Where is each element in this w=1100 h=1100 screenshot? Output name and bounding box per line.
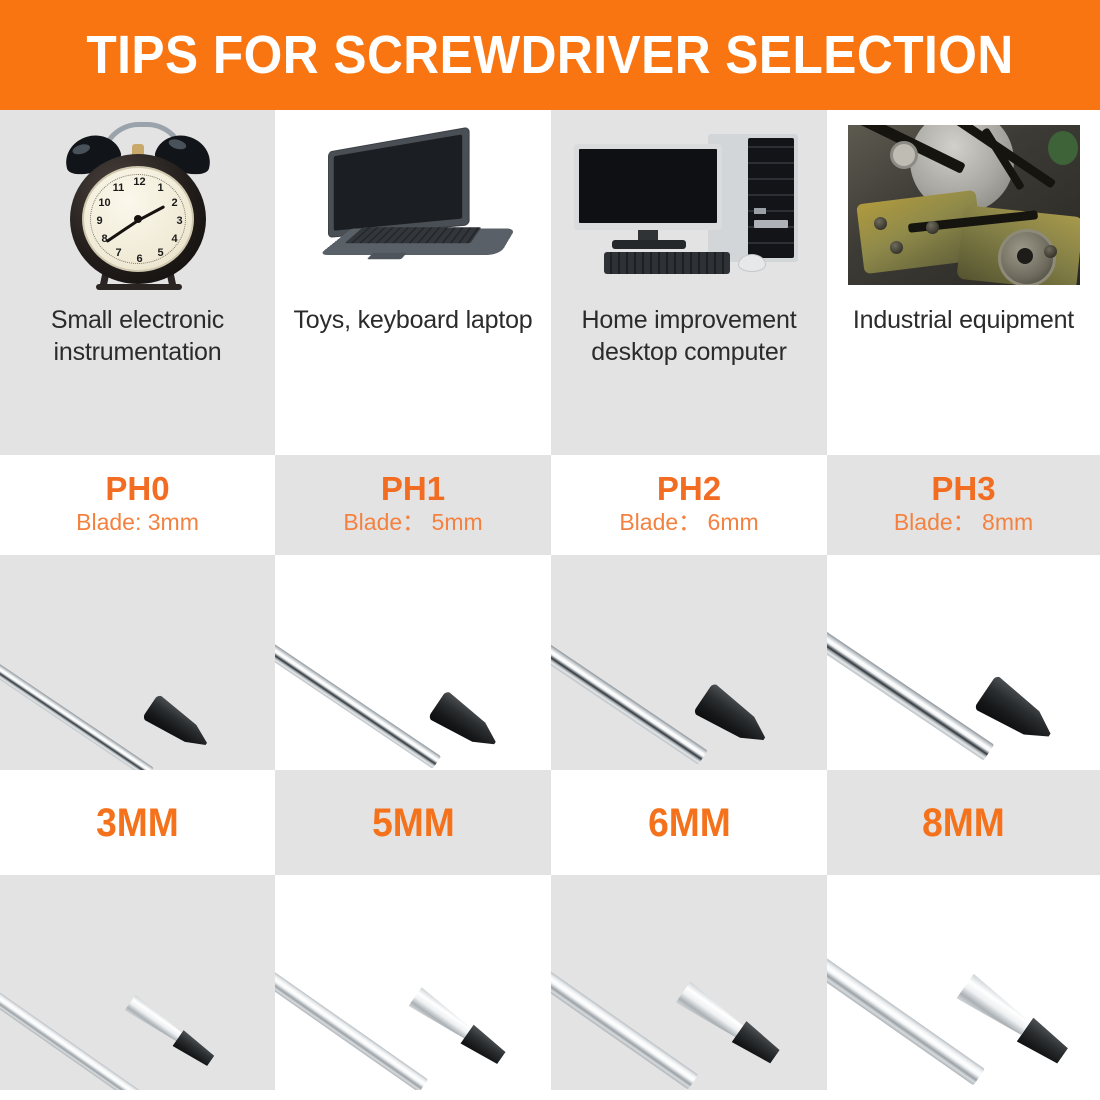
- use-case-caption: Toys, keyboard laptop: [287, 304, 538, 336]
- machine-bolt: [1044, 245, 1057, 258]
- monitor-base: [612, 240, 686, 249]
- ph-label-row: PH0 Blade: 3mm PH1 Blade： 5mm PH2 Blade：…: [0, 455, 1100, 555]
- mm-label: 6MM: [648, 803, 731, 843]
- phillips-screwdriver-2: [275, 555, 551, 770]
- flathead-blade-taper: [408, 987, 475, 1044]
- alarm-clock-icon: 12 1 2 3 4 5 6 7 8 9 10 11: [58, 120, 218, 290]
- screwdriver-shaft: [551, 560, 708, 764]
- clock-number: 11: [112, 183, 126, 194]
- clock-number: 12: [133, 177, 147, 188]
- laptop-trackpad: [367, 252, 407, 258]
- screwdriver-shaft: [0, 572, 154, 770]
- machine-bolt: [926, 221, 939, 234]
- industrial-machinery-photo: [848, 125, 1080, 285]
- mm-cell-1: 3MM: [0, 770, 275, 875]
- laptop-lid: [328, 126, 470, 237]
- pc-tower-power-button: [754, 220, 788, 228]
- flathead-screwdriver-1: [0, 875, 275, 1090]
- flathead-screwdriver-2: [275, 875, 551, 1090]
- blade-label: Blade： 6mm: [619, 507, 758, 538]
- monitor-screen: [579, 149, 717, 223]
- screwdriver-selection-infographic: TIPS FOR SCREWDRIVER SELECTION 12 1: [0, 0, 1100, 1100]
- industrial-equipment-image: [827, 110, 1100, 300]
- ph-cell-2: PH1 Blade： 5mm: [275, 455, 551, 555]
- clock-number: 2: [168, 198, 182, 209]
- screwdriver-shaft: [0, 890, 141, 1090]
- clock-face: 12 1 2 3 4 5 6 7 8 9 10 11: [82, 166, 194, 272]
- mouse: [738, 254, 766, 272]
- phillips-screwdriver-art: [551, 555, 827, 770]
- flathead-screwdriver-art: [0, 875, 275, 1090]
- pc-tower-front-panel: [748, 138, 794, 258]
- clock-number: 6: [133, 254, 147, 265]
- alarm-clock-image: 12 1 2 3 4 5 6 7 8 9 10 11: [0, 110, 275, 300]
- screwdriver-shaft: [275, 566, 441, 769]
- flathead-screwdriver-row: [0, 875, 1100, 1090]
- machine-hub: [890, 141, 918, 169]
- ph-label: PH0: [105, 472, 169, 507]
- desktop-computer-icon: [572, 130, 807, 280]
- ph-label: PH3: [931, 472, 995, 507]
- use-case-cell-3: Home improvement desktop computer: [551, 110, 827, 455]
- clock-number: 3: [173, 216, 187, 227]
- phillips-screwdriver-1: [0, 555, 275, 770]
- mm-cell-3: 6MM: [551, 770, 827, 875]
- ph-cell-1: PH0 Blade: 3mm: [0, 455, 275, 555]
- use-case-row: 12 1 2 3 4 5 6 7 8 9 10 11: [0, 110, 1100, 455]
- desktop-computer-image: [551, 110, 827, 300]
- screwdriver-shaft: [551, 879, 698, 1090]
- phillips-tip: [427, 690, 504, 757]
- clock-number: 9: [93, 216, 107, 227]
- laptop-image: [275, 110, 551, 300]
- page-title: TIPS FOR SCREWDRIVER SELECTION: [86, 28, 1013, 82]
- ph-label: PH2: [657, 472, 721, 507]
- laptop-screen: [334, 134, 462, 230]
- phillips-screwdriver-4: [827, 555, 1100, 770]
- flathead-screwdriver-art: [551, 875, 827, 1090]
- use-case-caption: Small electronic instrumentation: [0, 304, 275, 368]
- clock-number: 10: [98, 198, 112, 209]
- clock-number: 1: [154, 183, 168, 194]
- laptop-keyboard: [345, 227, 482, 243]
- screwdriver-shaft: [275, 884, 428, 1090]
- machine-bolt: [890, 241, 903, 254]
- clock-center-pin: [134, 215, 142, 223]
- phillips-screwdriver-art: [827, 555, 1100, 770]
- ph-cell-3: PH2 Blade： 6mm: [551, 455, 827, 555]
- screwdriver-shaft: [827, 875, 985, 1085]
- flathead-blade-taper: [676, 981, 748, 1042]
- clock-foot: [96, 284, 182, 290]
- monitor: [574, 144, 722, 230]
- use-case-caption: Home improvement desktop computer: [551, 304, 827, 368]
- use-case-caption: Industrial equipment: [847, 304, 1080, 336]
- phillips-screwdriver-art: [0, 555, 275, 770]
- use-case-cell-1: 12 1 2 3 4 5 6 7 8 9 10 11: [0, 110, 275, 455]
- flathead-screwdriver-art: [275, 875, 551, 1090]
- phillips-screwdriver-3: [551, 555, 827, 770]
- use-case-cell-2: Toys, keyboard laptop: [275, 110, 551, 455]
- mm-label: 3MM: [96, 803, 179, 843]
- blade-label: Blade： 5mm: [343, 507, 482, 538]
- ph-cell-4: PH3 Blade： 8mm: [827, 455, 1100, 555]
- flathead-screwdriver-4: [827, 875, 1100, 1090]
- clock-number: 7: [112, 248, 126, 259]
- blade-label: Blade: 3mm: [76, 507, 199, 538]
- clock-number: 4: [168, 234, 182, 245]
- use-case-cell-4: Industrial equipment: [827, 110, 1100, 455]
- phillips-tip: [142, 694, 215, 757]
- mm-label: 5MM: [372, 803, 455, 843]
- pc-tower-drive-slot: [754, 208, 766, 214]
- keyboard: [604, 252, 730, 274]
- clock-case: 12 1 2 3 4 5 6 7 8 9 10 11: [70, 154, 206, 284]
- machine-bolt: [874, 217, 887, 230]
- mm-cell-4: 8MM: [827, 770, 1100, 875]
- laptop-icon: [308, 138, 518, 273]
- mm-label: 8MM: [922, 803, 1005, 843]
- machine-green-part: [1048, 131, 1078, 165]
- mm-cell-2: 5MM: [275, 770, 551, 875]
- phillips-tip: [693, 682, 775, 754]
- flathead-screwdriver-art: [827, 875, 1100, 1090]
- clock-number: 5: [154, 248, 168, 259]
- phillips-screwdriver-art: [275, 555, 551, 770]
- ph-label: PH1: [381, 472, 445, 507]
- mm-label-row: 3MM 5MM 6MM 8MM: [0, 770, 1100, 875]
- phillips-screwdriver-row: [0, 555, 1100, 770]
- screwdriver-shaft: [827, 555, 994, 761]
- blade-label: Blade： 8mm: [894, 507, 1033, 538]
- flathead-blade-taper: [956, 974, 1034, 1041]
- flathead-screwdriver-3: [551, 875, 827, 1090]
- flathead-blade-taper: [125, 995, 187, 1046]
- header-banner: TIPS FOR SCREWDRIVER SELECTION: [0, 0, 1100, 110]
